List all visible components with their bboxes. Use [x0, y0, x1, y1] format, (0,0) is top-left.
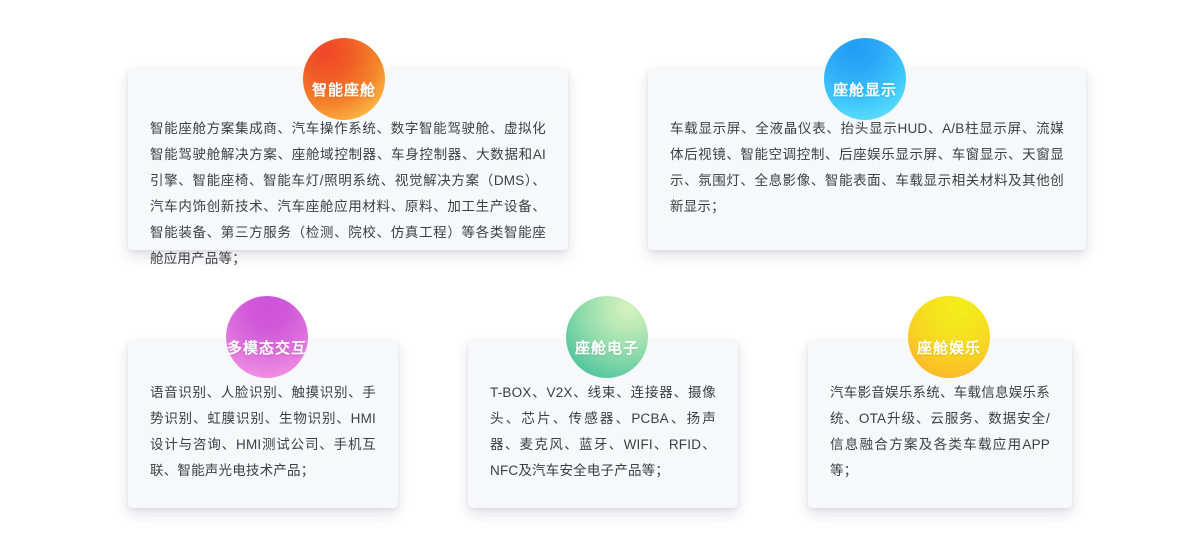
- badge-cockpit-electronics[interactable]: 座舱电子: [566, 296, 648, 378]
- card-cockpit-display-body: 车载显示屏、全液晶仪表、抬头显示HUD、A/B柱显示屏、流媒体后视镜、智能空调控…: [648, 116, 1086, 220]
- card-cockpit-entertainment-body: 汽车影音娱乐系统、车载信息娱乐系统、OTA升级、云服务、数据安全/信息融合方案及…: [808, 380, 1072, 484]
- badge-cockpit-display-label: 座舱显示: [833, 79, 897, 100]
- category-cards-board: 智能座舱方案集成商、汽车操作系统、数字智能驾驶舱、虚拟化智能驾驶舱解决方案、座舱…: [0, 0, 1200, 550]
- badge-cockpit-entertainment[interactable]: 座舱娱乐: [908, 296, 990, 378]
- card-multimodal-interaction-body: 语音识别、人脸识别、触摸识别、手势识别、虹膜识别、生物识别、HMI设计与咨询、H…: [128, 380, 398, 484]
- badge-cockpit-display[interactable]: 座舱显示: [824, 38, 906, 120]
- card-cockpit-electronics-body: T-BOX、V2X、线束、连接器、摄像头、芯片、传感器、PCBA、扬声器、麦克风…: [468, 380, 738, 484]
- card-smart-cockpit-body: 智能座舱方案集成商、汽车操作系统、数字智能驾驶舱、虚拟化智能驾驶舱解决方案、座舱…: [128, 116, 568, 272]
- badge-smart-cockpit[interactable]: 智能座舱: [303, 38, 385, 120]
- badge-smart-cockpit-label: 智能座舱: [312, 79, 376, 100]
- badge-multimodal-interaction[interactable]: 多模态交互: [226, 296, 308, 378]
- badge-cockpit-electronics-label: 座舱电子: [575, 337, 639, 358]
- badge-multimodal-interaction-label: 多模态交互: [227, 337, 307, 358]
- badge-cockpit-entertainment-label: 座舱娱乐: [917, 337, 981, 358]
